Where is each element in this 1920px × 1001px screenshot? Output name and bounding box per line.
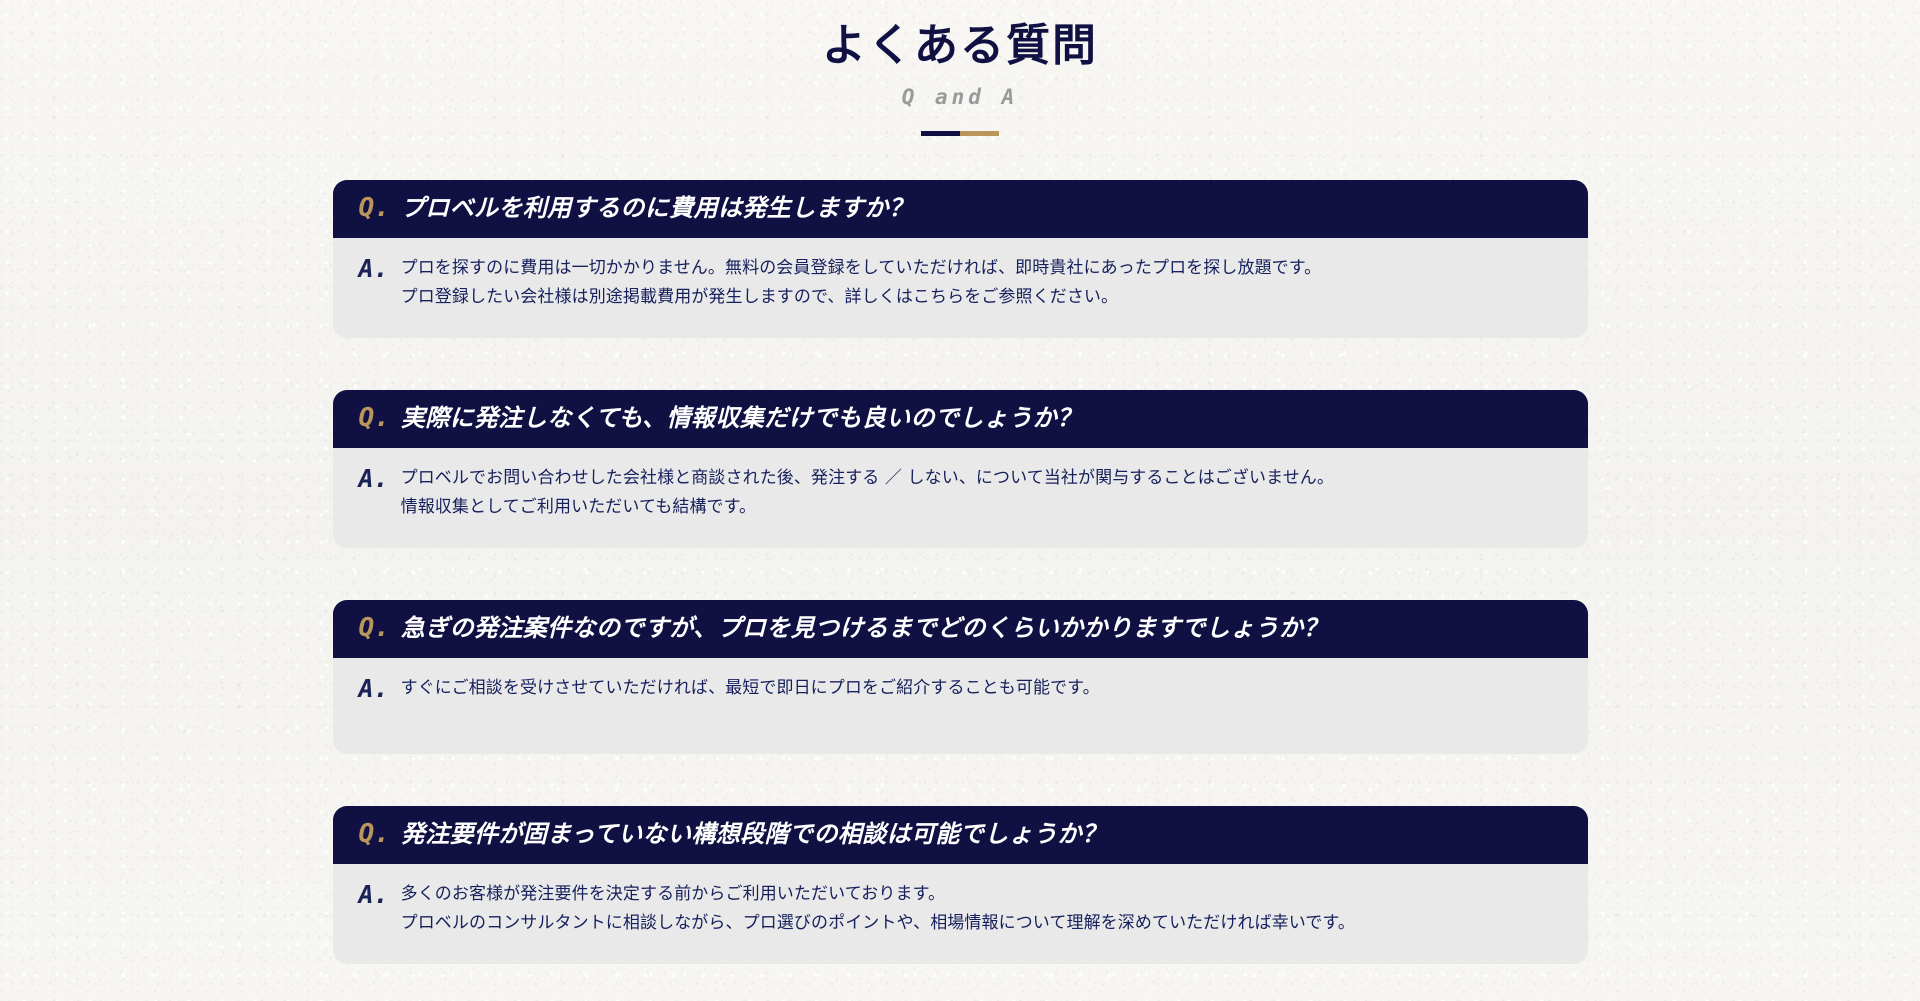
faq-answer-body: A. すぐにご相談を受けさせていただければ、最短で即日にプロをご紹介することも可… [333, 658, 1588, 754]
faq-question-text: 急ぎの発注案件なのですが、プロを見つけるまでどのくらいかかりますでしょうか？ [401, 613, 1328, 644]
faq-answer-line: すぐにご相談を受けさせていただければ、最短で即日にプロをご紹介することも可能です… [401, 674, 1562, 703]
faq-answer-text: プロベルでお問い合わせした会社様と商談された後、発注する ／ しない、について当… [401, 464, 1562, 522]
faq-answer-line: 情報収集としてご利用いただいても結構です。 [401, 493, 1562, 522]
answer-mark-label: A. [359, 880, 389, 909]
faq-answer-line: プロベルでお問い合わせした会社様と商談された後、発注する ／ しない、について当… [401, 464, 1562, 493]
faq-answer-text: すぐにご相談を受けさせていただければ、最短で即日にプロをご紹介することも可能です… [401, 674, 1562, 703]
faq-page: よくある質問 Q and A Q. プロベルを利用するのに費用は発生しますか？ … [0, 0, 1920, 1001]
faq-question-header[interactable]: Q. 実際に発注しなくても、情報収集だけでも良いのでしょうか？ [333, 390, 1588, 448]
answer-mark-label: A. [359, 674, 389, 703]
faq-answer-body: A. プロベルでお問い合わせした会社様と商談された後、発注する ／ しない、につ… [333, 448, 1588, 548]
faq-answer-text: 多くのお客様が発注要件を決定する前からご利用いただいております。 プロベルのコン… [401, 880, 1562, 938]
faq-answer-line: 多くのお客様が発注要件を決定する前からご利用いただいております。 [401, 880, 1562, 909]
faq-question-text: プロベルを利用するのに費用は発生しますか？ [401, 193, 913, 224]
divider-segment-navy [921, 131, 960, 136]
faq-question-header[interactable]: Q. 急ぎの発注案件なのですが、プロを見つけるまでどのくらいかかりますでしょうか… [333, 600, 1588, 658]
faq-answer-line: プロ登録したい会社様は別途掲載費用が発生しますので、詳しくはこちらをご参照くださ… [401, 283, 1562, 312]
question-mark-label: Q. [359, 195, 390, 221]
section-header: よくある質問 Q and A [0, 0, 1920, 136]
faq-item: Q. 急ぎの発注案件なのですが、プロを見つけるまでどのくらいかかりますでしょうか… [333, 600, 1588, 754]
answer-mark-label: A. [359, 464, 389, 493]
faq-question-header[interactable]: Q. プロベルを利用するのに費用は発生しますか？ [333, 180, 1588, 238]
divider-segment-gold [960, 131, 999, 136]
faq-answer-body: A. プロを探すのに費用は一切かかりません。無料の会員登録をしていただければ、即… [333, 238, 1588, 338]
question-mark-label: Q. [359, 821, 390, 847]
faq-item: Q. 発注要件が固まっていない構想段階での相談は可能でしょうか？ A. 多くのお… [333, 806, 1588, 964]
faq-answer-body: A. 多くのお客様が発注要件を決定する前からご利用いただいております。 プロベル… [333, 864, 1588, 964]
faq-item: Q. 実際に発注しなくても、情報収集だけでも良いのでしょうか？ A. プロベルで… [333, 390, 1588, 548]
page-subtitle: Q and A [0, 85, 1920, 109]
faq-answer-line: プロを探すのに費用は一切かかりません。無料の会員登録をしていただければ、即時貴社… [401, 254, 1562, 283]
faq-answer-text: プロを探すのに費用は一切かかりません。無料の会員登録をしていただければ、即時貴社… [401, 254, 1562, 312]
faq-question-text: 発注要件が固まっていない構想段階での相談は可能でしょうか？ [401, 819, 1106, 850]
page-title: よくある質問 [0, 18, 1920, 73]
title-divider [921, 131, 999, 136]
faq-answer-line: プロベルのコンサルタントに相談しながら、プロ選びのポイントや、相場情報について理… [401, 909, 1562, 938]
question-mark-label: Q. [359, 405, 390, 431]
faq-question-header[interactable]: Q. 発注要件が固まっていない構想段階での相談は可能でしょうか？ [333, 806, 1588, 864]
faq-question-text: 実際に発注しなくても、情報収集だけでも良いのでしょうか？ [401, 403, 1082, 434]
faq-list: Q. プロベルを利用するのに費用は発生しますか？ A. プロを探すのに費用は一切… [333, 180, 1588, 964]
answer-mark-label: A. [359, 254, 389, 283]
faq-item: Q. プロベルを利用するのに費用は発生しますか？ A. プロを探すのに費用は一切… [333, 180, 1588, 338]
question-mark-label: Q. [359, 615, 390, 641]
